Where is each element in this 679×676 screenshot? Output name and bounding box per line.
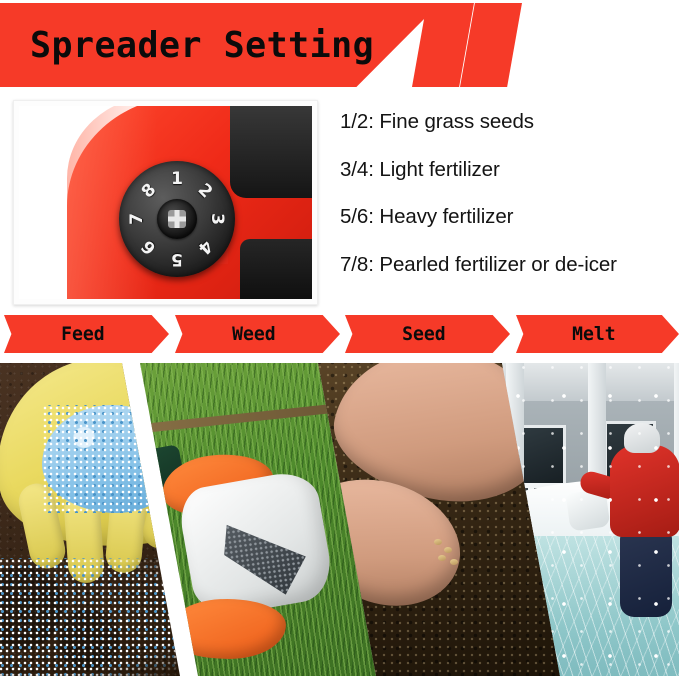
dial-number-1: 1 xyxy=(171,169,183,189)
setting-line-7-8: 7/8: Pearled fertilizer or de-icer xyxy=(340,255,676,276)
dial-number-4: 4 xyxy=(194,236,217,259)
spreader-dial-photo-content: 1 2 3 4 5 6 7 8 xyxy=(19,106,312,299)
dial-screw-icon xyxy=(168,210,186,228)
spreader-dial-photo: 1 2 3 4 5 6 7 8 xyxy=(13,100,318,305)
category-banner-feed: Feed xyxy=(4,315,169,353)
setting-line-3-4: 3/4: Light fertilizer xyxy=(340,160,676,181)
dial-number-2: 2 xyxy=(194,180,217,203)
category-photo-strip xyxy=(0,363,679,676)
seed-4 xyxy=(450,559,458,565)
category-label-weed: Weed xyxy=(232,323,275,345)
category-label-feed: Feed xyxy=(61,323,104,345)
seed-2 xyxy=(444,547,452,553)
header-banner: Spreader Setting xyxy=(0,0,679,90)
dial-number-8: 8 xyxy=(138,180,161,203)
category-labels-row: Feed Weed Seed Melt xyxy=(0,312,679,358)
dial-number-5: 5 xyxy=(171,249,183,269)
seed-3 xyxy=(438,555,446,561)
category-banner-melt: Melt xyxy=(516,315,679,353)
category-label-melt: Melt xyxy=(572,323,615,345)
dial-number-3: 3 xyxy=(207,213,227,225)
page-title: Spreader Setting xyxy=(30,3,374,87)
dial-number-6: 6 xyxy=(138,236,161,259)
dial-number-7: 7 xyxy=(127,213,147,225)
seed-1 xyxy=(434,539,442,545)
setting-line-5-6: 5/6: Heavy fertilizer xyxy=(340,207,676,228)
category-banner-weed: Weed xyxy=(175,315,340,353)
category-banner-seed: Seed xyxy=(345,315,510,353)
spreader-settings-list: 1/2: Fine grass seeds 3/4: Light fertili… xyxy=(340,112,676,302)
spreader-black-housing-top xyxy=(230,106,312,198)
category-label-seed: Seed xyxy=(402,323,445,345)
setting-dial: 1 2 3 4 5 6 7 8 xyxy=(119,161,235,277)
spreader-black-housing-bottom xyxy=(240,239,312,299)
spreader-setting-infographic: Spreader Setting 1 2 3 4 5 6 7 8 xyxy=(0,0,679,676)
setting-line-1-2: 1/2: Fine grass seeds xyxy=(340,112,676,133)
